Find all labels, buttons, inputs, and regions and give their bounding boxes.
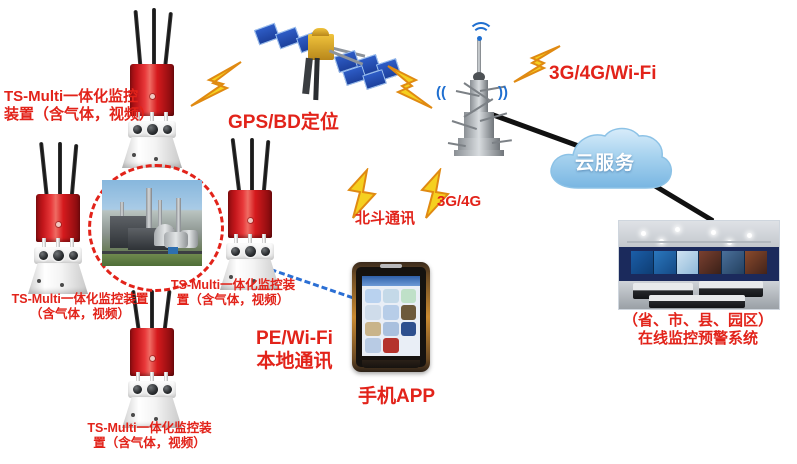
tablet-app-grid <box>365 289 416 353</box>
label-local-link: PE/Wi-Fi 本地通讯 <box>242 327 347 373</box>
label-device-mid-left-line2: （含气体，视频） <box>0 307 160 322</box>
satellite-icon <box>252 8 402 100</box>
label-device-top-left-line1: TS-Multi一体化监控 <box>4 88 138 106</box>
signal-wave-right-icon: )) <box>498 84 508 101</box>
label-local-link-line2: 本地通讯 <box>242 350 347 373</box>
rugged-tablet-photo <box>352 262 430 372</box>
label-control-center-line1: （省、市、县、园区） <box>612 312 784 330</box>
label-mobile-link: 3G/4G <box>437 193 481 211</box>
label-device-bottom-line1: TS-Multi一体化监控装 <box>72 421 227 436</box>
diagram-root: )) )) 云服务 <box>0 0 797 464</box>
label-local-link-line1: PE/Wi-Fi <box>242 327 347 350</box>
label-device-center-line2: 置（含气体，视频） <box>158 293 308 308</box>
bolt-satellite-to-tower-icon <box>382 62 438 119</box>
label-device-top-left-line2: 装置（含气体，视频） <box>4 106 138 124</box>
label-phone-app: 手机APP <box>358 385 426 408</box>
sensor-device-2 <box>14 142 98 298</box>
label-device-bottom-line2: 置（含气体，视频） <box>72 436 227 451</box>
cloud-label: 云服务 <box>575 148 635 175</box>
refinery-photo <box>102 180 202 266</box>
bolt-gps-link-icon <box>183 58 249 115</box>
label-beidou-link: 北斗通讯 <box>355 210 415 228</box>
label-device-center: TS-Multi一体化监控装 置（含气体，视频） <box>158 278 308 309</box>
label-device-bottom: TS-Multi一体化监控装 置（含气体，视频） <box>72 421 227 452</box>
label-control-center-line2: 在线监控预警系统 <box>612 330 784 348</box>
label-device-center-line1: TS-Multi一体化监控装 <box>158 278 308 293</box>
label-cell-link: 3G/4G/Wi-Fi <box>549 62 657 85</box>
control-room-photo <box>618 220 780 310</box>
label-device-mid-left: TS-Multi一体化监控装置 （含气体，视频） <box>0 292 160 323</box>
label-device-mid-left-line1: TS-Multi一体化监控装置 <box>0 292 160 307</box>
label-device-top-left: TS-Multi一体化监控 装置（含气体，视频） <box>4 88 138 125</box>
label-gps-link: GPS/BD定位 <box>228 111 339 134</box>
label-control-center: （省、市、县、园区） 在线监控预警系统 <box>612 312 784 349</box>
diagram-canvas: )) )) 云服务 <box>0 0 787 455</box>
cloud-icon: 云服务 <box>542 124 678 196</box>
